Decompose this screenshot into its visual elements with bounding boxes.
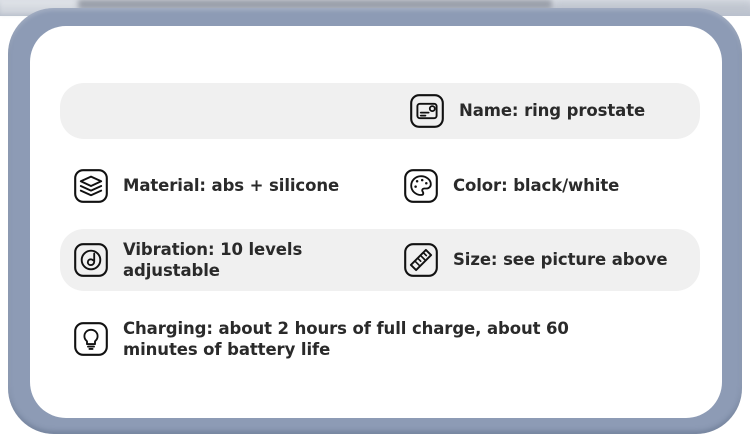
layers-icon bbox=[72, 167, 110, 205]
spec-text-material: Material: abs + silicone bbox=[123, 175, 339, 196]
row-spacer-3 bbox=[60, 291, 700, 305]
palette-icon bbox=[402, 167, 440, 205]
vibration-wave-icon bbox=[72, 241, 110, 279]
lightbulb-icon bbox=[72, 320, 110, 358]
spec-text-vibration: Vibration: 10 levels adjustable bbox=[123, 239, 338, 281]
product-spec-page: Name: ring prostate Material: abs bbox=[0, 0, 750, 446]
row-spacer-2 bbox=[60, 217, 700, 229]
spec-row-charging: Charging: about 2 hours of full charge, … bbox=[60, 305, 700, 373]
id-card-icon bbox=[408, 92, 446, 130]
spec-cell-vibration: Vibration: 10 levels adjustable bbox=[60, 239, 390, 281]
spec-cell-color: Color: black/white bbox=[390, 167, 700, 205]
spec-cell-name: Name: ring prostate bbox=[60, 92, 700, 130]
spec-text-name: Name: ring prostate bbox=[459, 100, 645, 121]
ruler-icon bbox=[402, 241, 440, 279]
spec-cell-material: Material: abs + silicone bbox=[60, 167, 390, 205]
spec-text-size: Size: see picture above bbox=[453, 249, 668, 270]
spec-card: Name: ring prostate Material: abs bbox=[30, 26, 722, 418]
row-spacer-1 bbox=[60, 139, 700, 155]
spec-row-material-color: Material: abs + silicone Color: bl bbox=[60, 155, 700, 217]
spec-list: Name: ring prostate Material: abs bbox=[60, 83, 700, 373]
spec-text-color: Color: black/white bbox=[453, 175, 619, 196]
spec-row-vibration-size: Vibration: 10 levels adjustable Si bbox=[60, 229, 700, 291]
spec-text-charging: Charging: about 2 hours of full charge, … bbox=[123, 318, 623, 360]
spec-row-name: Name: ring prostate bbox=[60, 83, 700, 139]
spec-cell-size: Size: see picture above bbox=[390, 241, 700, 279]
